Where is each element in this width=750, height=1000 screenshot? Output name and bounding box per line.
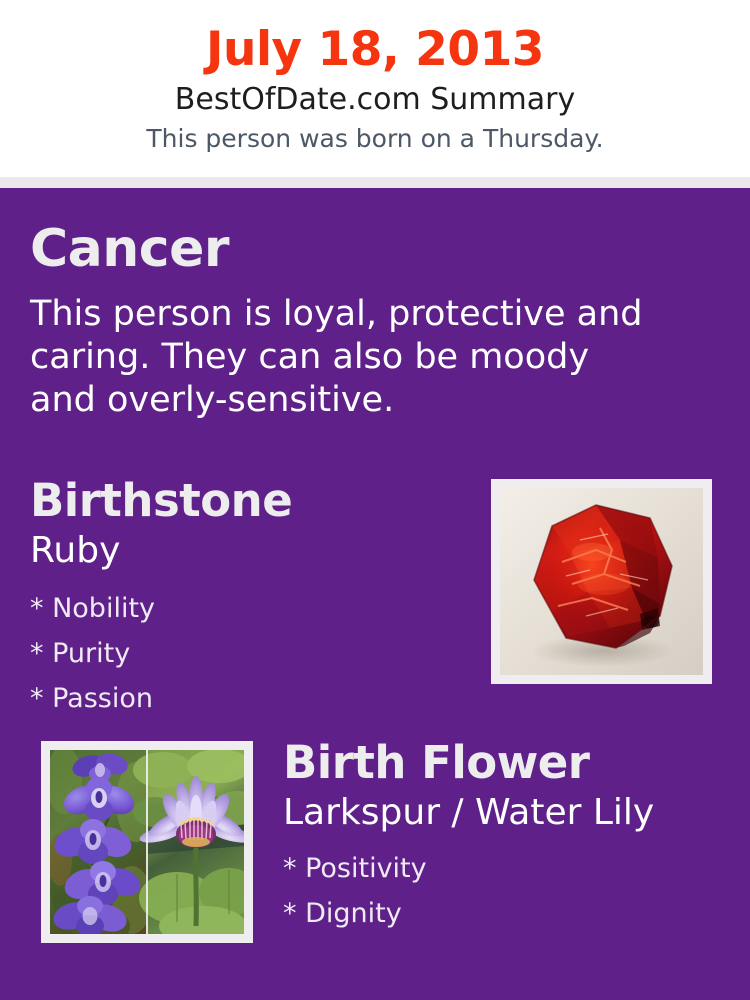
- list-item: * Dignity: [283, 891, 427, 936]
- larkspur-and-water-lily-photo: [50, 750, 244, 934]
- zodiac-description: This person is loyal, protective and car…: [30, 293, 650, 422]
- site-subtitle: BestOfDate.com Summary: [0, 73, 750, 115]
- zodiac-sign-heading: Cancer: [30, 223, 229, 275]
- page-title-date: July 18, 2013: [0, 0, 750, 73]
- summary-header: July 18, 2013 BestOfDate.com Summary Thi…: [0, 0, 750, 177]
- birth-flower-trait-list: * Positivity * Dignity: [283, 846, 427, 936]
- birthstone-name: Ruby: [30, 533, 120, 569]
- list-item: * Purity: [30, 631, 155, 676]
- birth-flower-heading: Birth Flower: [283, 740, 590, 785]
- header-divider: [0, 177, 750, 188]
- list-item: * Positivity: [283, 846, 427, 891]
- birthstone-image-frame: [491, 479, 712, 684]
- ruby-crystal-photo: [500, 488, 703, 675]
- born-day-line: This person was born on a Thursday.: [0, 115, 750, 151]
- birthstone-heading: Birthstone: [30, 478, 292, 523]
- list-item: * Passion: [30, 676, 155, 721]
- details-panel: Cancer This person is loyal, protective …: [0, 188, 750, 1000]
- birth-flower-name: Larkspur / Water Lily: [283, 795, 654, 831]
- list-item: * Nobility: [30, 586, 155, 631]
- birthstone-trait-list: * Nobility * Purity * Passion: [30, 586, 155, 721]
- birth-flower-image-frame: [41, 741, 253, 943]
